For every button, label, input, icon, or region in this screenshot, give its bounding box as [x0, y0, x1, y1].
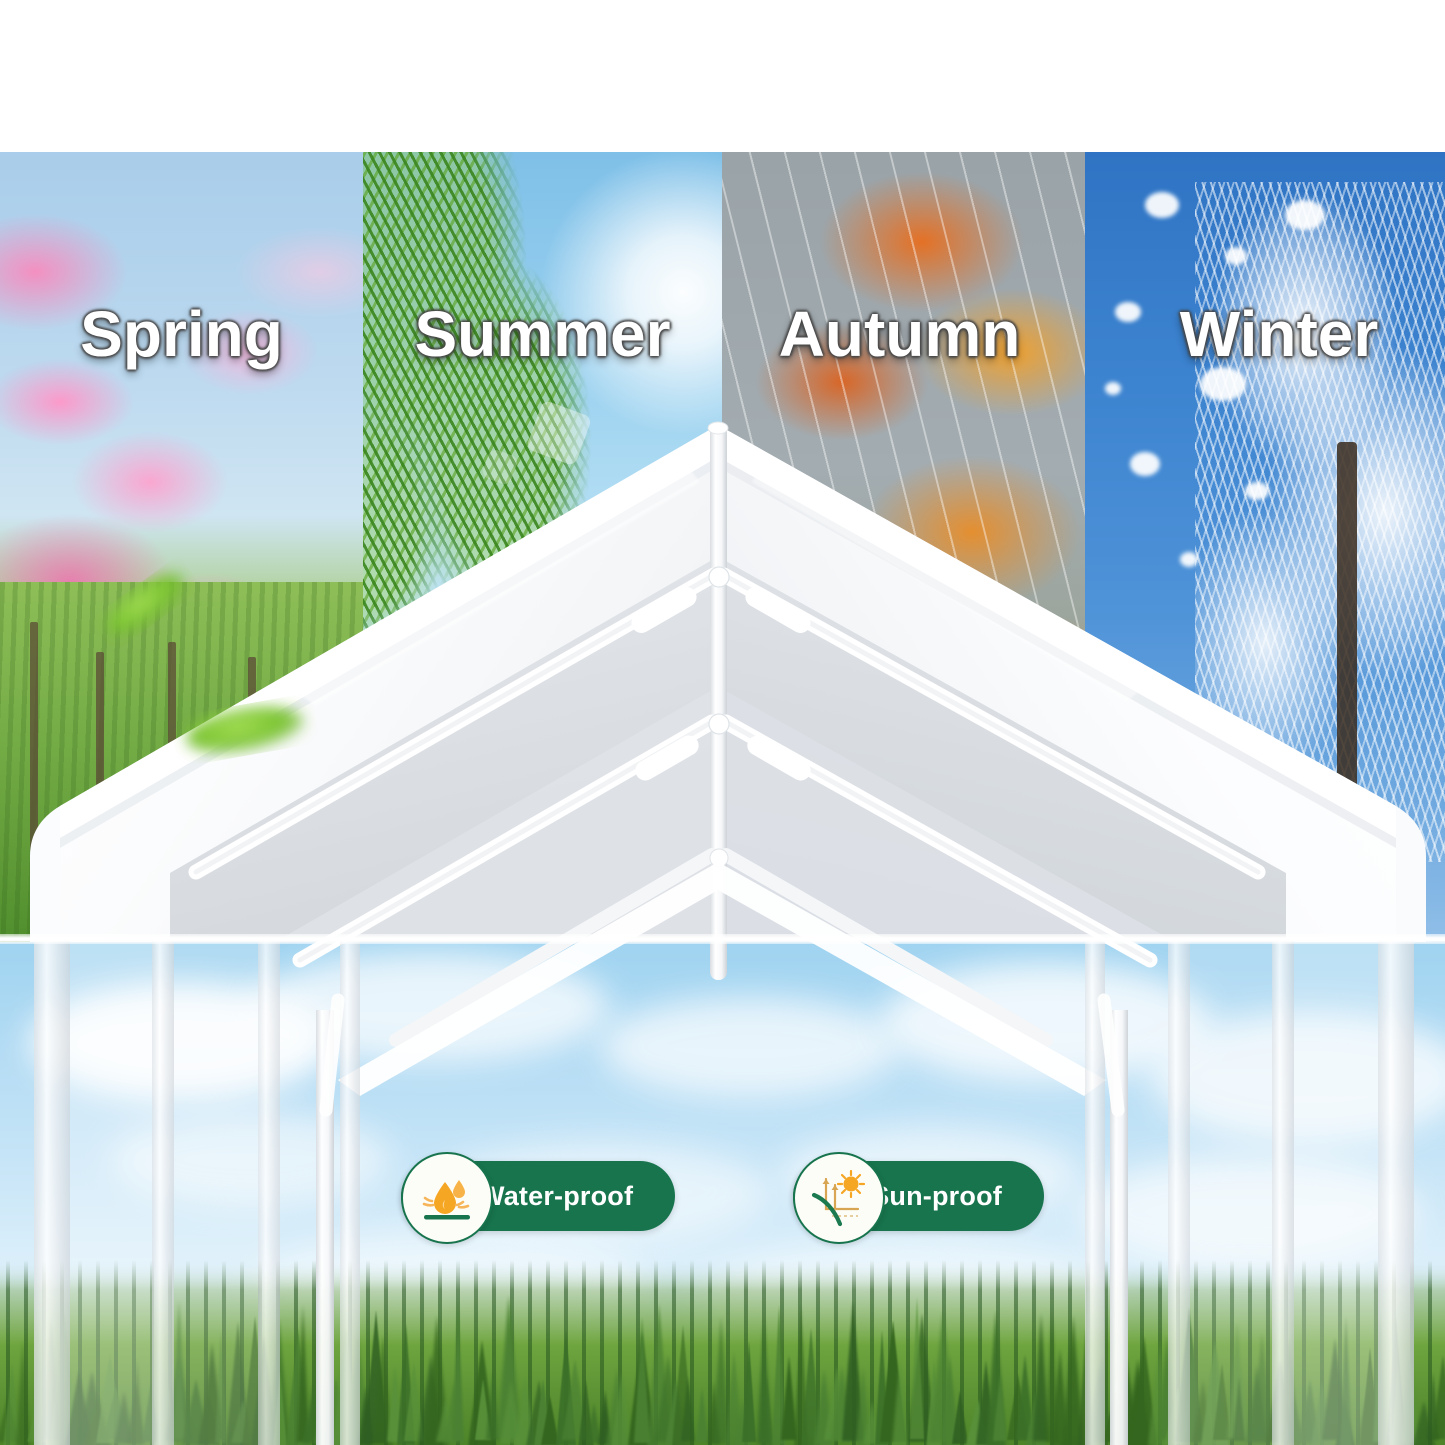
conifer-tree: [1233, 1376, 1245, 1441]
frost-covered-tree: [1195, 182, 1445, 862]
badge-label: Water-proof: [479, 1181, 633, 1212]
conifer-tree: [681, 1376, 695, 1441]
section-divider: [0, 934, 1445, 944]
season-label-summer: Summer: [363, 302, 722, 366]
conifer-tree: [1340, 1316, 1352, 1445]
snowflake-icon: [1130, 452, 1160, 476]
badge-icon-circle: [401, 1152, 493, 1244]
badge-water-proof[interactable]: Water-proof: [401, 1152, 675, 1240]
conifer-tree: [892, 1358, 908, 1445]
snowflake-icon: [1225, 247, 1247, 265]
water-drop-icon: [419, 1170, 475, 1226]
spring-tree-trunk: [248, 657, 256, 852]
conifer-tree: [215, 1330, 227, 1443]
season-label-spring: Spring: [0, 302, 363, 366]
spring-tree-trunk: [168, 642, 176, 852]
sun-with-arrows-icon: [810, 1169, 868, 1227]
cloud: [600, 997, 900, 1097]
feature-badge-group: Water-proof: [0, 1152, 1445, 1240]
snowflake-icon: [1105, 382, 1121, 395]
season-label-autumn: Autumn: [722, 302, 1081, 366]
snowflake-icon: [1145, 192, 1179, 218]
conifer-tree: [742, 1341, 756, 1442]
conifer-tree: [993, 1373, 1007, 1441]
badge-icon-circle: [793, 1152, 885, 1244]
snowflake-icon: [1180, 552, 1198, 567]
conifer-tree: [910, 1297, 924, 1439]
rain-overlay: [722, 152, 1085, 942]
badge-label: Sun-proof: [871, 1181, 1002, 1212]
conifer-tree: [696, 1388, 708, 1442]
conifer-tree: [452, 1299, 464, 1441]
conifer-tree: [1432, 1355, 1445, 1439]
cloud: [250, 952, 610, 1062]
season-panel-winter: Winter: [1085, 152, 1445, 942]
snowflake-icon: [1245, 482, 1269, 500]
badge-sun-proof[interactable]: Sun-proof: [793, 1152, 1044, 1240]
season-strip: Spring Summer Autumn: [0, 152, 1445, 942]
snowflake-icon: [1285, 200, 1325, 230]
season-label-winter: Winter: [1099, 302, 1445, 366]
tree-trunk: [1337, 442, 1357, 842]
conifer-tree: [1373, 1314, 1387, 1442]
spring-background: [0, 152, 363, 942]
spring-tree-trunk: [96, 652, 104, 852]
sea-horizon: [363, 812, 722, 942]
season-panel-summer: Summer: [363, 152, 722, 942]
season-panel-autumn: Autumn: [722, 152, 1085, 942]
season-panel-spring: Spring: [0, 152, 363, 942]
cloud: [1150, 1012, 1445, 1142]
spring-tree-trunk: [30, 622, 38, 852]
product-marketing-image: Spring Summer Autumn: [0, 0, 1445, 1445]
snowflake-icon: [1200, 367, 1246, 401]
